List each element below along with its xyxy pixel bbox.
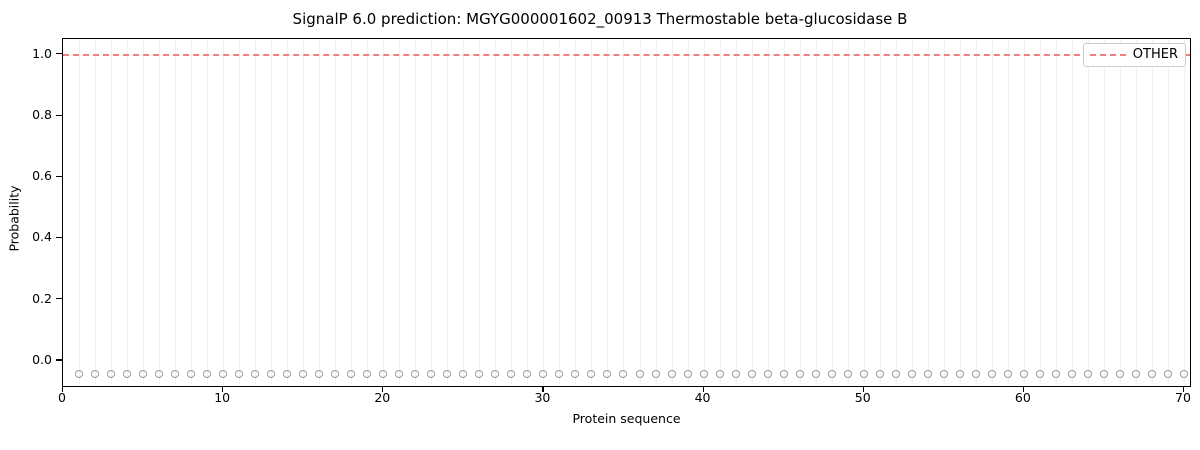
gridline [559,39,560,386]
gridline [1024,39,1025,386]
other-probability-line [63,54,1190,56]
gridline [1120,39,1121,386]
gridline [575,39,576,386]
residue-marker [379,370,387,378]
residue-letter: I [151,386,167,387]
residue-letter: E [263,386,279,387]
residue-letter: D [904,386,920,387]
gridline [207,39,208,386]
gridline [1184,39,1185,386]
residue-letter: L [359,386,375,387]
residue-marker [988,370,996,378]
residue-marker [283,370,291,378]
gridline [303,39,304,386]
gridline [672,39,673,386]
residue-marker [251,370,259,378]
residue-letter: I [167,386,183,387]
gridline [976,39,977,386]
gridline [800,39,801,386]
legend-other-label: OTHER [1133,48,1178,62]
gridline [896,39,897,386]
residue-letter: I [1080,386,1096,387]
residue-marker [700,370,708,378]
gridline [527,39,528,386]
residue-letter: G [792,386,808,387]
residue-letter: D [87,386,103,387]
residue-marker [780,370,788,378]
residue-marker [331,370,339,378]
residue-marker [571,370,579,378]
residue-letter: K [135,386,151,387]
residue-marker [523,370,531,378]
residue-marker [796,370,804,378]
y-tick-label: 0.0 [6,353,52,366]
gridline [111,39,112,386]
residue-letter: K [888,386,904,387]
residue-letter: K [119,386,135,387]
residue-letter: V [615,386,631,387]
x-tick-label: 50 [843,391,883,404]
gridline [191,39,192,386]
gridline [992,39,993,386]
residue-marker [1132,370,1140,378]
gridline [271,39,272,386]
residue-letter: D [728,386,744,387]
residue-letter: H [327,386,343,387]
residue-letter: M [840,386,856,387]
gridline [239,39,240,386]
gridline [688,39,689,386]
residue-letter: S [471,386,487,387]
y-tick-label: 0.2 [6,292,52,305]
gridline [623,39,624,386]
gridline [367,39,368,386]
gridline [607,39,608,386]
residue-letter: E [551,386,567,387]
x-tick-label: 10 [202,391,242,404]
residue-letter: K [295,386,311,387]
residue-marker [1004,370,1012,378]
x-tick-mark [222,387,223,392]
gridline [175,39,176,386]
residue-letter: K [632,386,648,387]
residue-marker [1100,370,1108,378]
x-tick-label: 0 [42,391,82,404]
gridline [463,39,464,386]
residue-letter: S [920,386,936,387]
gridline [255,39,256,386]
gridline [1072,39,1073,386]
gridline [832,39,833,386]
x-tick-label: 40 [683,391,723,404]
residue-letter: N [455,386,471,387]
residue-letter: M [71,386,87,387]
residue-marker [1068,370,1076,378]
residue-marker [1020,370,1028,378]
residue-marker [139,370,147,378]
residue-letter: E [199,386,215,387]
gridline [479,39,480,386]
x-tick-label: 30 [522,391,562,404]
residue-letter: G [744,386,760,387]
residue-letter: M [664,386,680,387]
residue-marker [155,370,163,378]
gridline [784,39,785,386]
x-tick-mark [1023,387,1024,392]
gridline [1040,39,1041,386]
residue-marker [1036,370,1044,378]
gridline [768,39,769,386]
gridline [864,39,865,386]
residue-letter: D [423,386,439,387]
gridline [640,39,641,386]
residue-marker [427,370,435,378]
residue-marker [812,370,820,378]
residue-marker [764,370,772,378]
gridline [95,39,96,386]
residue-letter: Y [343,386,359,387]
residue-marker [475,370,483,378]
residue-letter: F [583,386,599,387]
residue-marker [940,370,948,378]
gridline [543,39,544,386]
residue-letter: Q [1032,386,1048,387]
residue-marker [716,370,724,378]
gridline [591,39,592,386]
residue-letter: L [1048,386,1064,387]
residue-marker [171,370,179,378]
residue-marker [363,370,371,378]
gridline [880,39,881,386]
residue-marker [956,370,964,378]
legend[interactable]: OTHER [1083,43,1186,67]
x-tick-mark [542,387,543,392]
gridline [720,39,721,386]
residue-letter: Q [968,386,984,387]
gridline [944,39,945,386]
residue-letter: S [936,386,952,387]
residue-marker [347,370,355,378]
residue-marker [876,370,884,378]
residue-letter: E [279,386,295,387]
gridline [287,39,288,386]
gridline [912,39,913,386]
gridline [1152,39,1153,386]
residue-letter: P [599,386,615,387]
residue-letter: R [824,386,840,387]
residue-letter: K [648,386,664,387]
residue-letter: T [231,386,247,387]
residue-marker [299,370,307,378]
gridline [351,39,352,386]
gridline [319,39,320,386]
x-tick-mark [703,387,704,392]
residue-marker [1164,370,1172,378]
residue-letter: K [1064,386,1080,387]
residue-marker [411,370,419,378]
residue-marker [748,370,756,378]
residue-marker [619,370,627,378]
residue-letter: L [808,386,824,387]
residue-letter: Y [503,386,519,387]
y-tick-label: 0.6 [6,169,52,182]
residue-marker [1052,370,1060,378]
residue-marker [555,370,563,378]
signalp-prediction-figure: SignalP 6.0 prediction: MGYG000001602_00… [0,0,1200,450]
residue-marker [587,370,595,378]
residue-marker [235,370,243,378]
gridline [383,39,384,386]
residue-marker [75,370,83,378]
gridline [656,39,657,386]
residue-marker [844,370,852,378]
gridline [816,39,817,386]
gridline [1104,39,1105,386]
residue-marker [123,370,131,378]
gridline [736,39,737,386]
gridline [704,39,705,386]
residue-letter: H [712,386,728,387]
x-tick-mark [1183,387,1184,392]
residue-letter: P [1096,386,1112,387]
residue-letter: F [1144,386,1160,387]
residue-marker [668,370,676,378]
x-tick-label: 60 [1003,391,1043,404]
residue-letter: R [567,386,583,387]
residue-letter: L [439,386,455,387]
residue-marker [1084,370,1092,378]
residue-marker [443,370,451,378]
gridline [79,39,80,386]
residue-marker [1116,370,1124,378]
residue-marker [924,370,932,378]
gridline [159,39,160,386]
residue-letter: Y [103,386,119,387]
residue-marker [636,370,644,378]
residue-marker [603,370,611,378]
residue-marker [539,370,547,378]
residue-letter: T [1112,386,1128,387]
residue-letter: A [407,386,423,387]
residue-letter: E [1000,386,1016,387]
x-tick-mark [382,387,383,392]
residue-letter: T [183,386,199,387]
residue-marker [491,370,499,378]
gridline [495,39,496,386]
residue-marker [107,370,115,378]
gridline [1136,39,1137,386]
residue-letter: E [519,386,535,387]
legend-other-line-swatch [1090,54,1126,56]
residue-letter: Q [1160,386,1176,387]
residue-marker [652,370,660,378]
x-tick-label: 20 [362,391,402,404]
gridline [752,39,753,386]
gridline [335,39,336,386]
residue-marker [219,370,227,378]
residue-marker [732,370,740,378]
residue-letter: V [872,386,888,387]
residue-marker [892,370,900,378]
residue-marker [507,370,515,378]
x-axis-label: Protein sequence [62,412,1191,425]
residue-letter: G [391,386,407,387]
residue-marker [860,370,868,378]
residue-marker [459,370,467,378]
gridline [127,39,128,386]
residue-letter: K [952,386,968,387]
residue-letter: A [1128,386,1144,387]
gridline [960,39,961,386]
gridline [848,39,849,386]
residue-marker [267,370,275,378]
x-tick-mark [863,387,864,392]
residue-letter: E [984,386,1000,387]
gridline [143,39,144,386]
gridline [415,39,416,386]
y-tick-label: 0.4 [6,230,52,243]
y-tick-label: 1.0 [6,47,52,60]
y-tick-label: 0.8 [6,108,52,121]
gridline [399,39,400,386]
residue-marker [395,370,403,378]
residue-letter: P [760,386,776,387]
residue-letter: L [247,386,263,387]
residue-marker [203,370,211,378]
gridline [1008,39,1009,386]
residue-marker [91,370,99,378]
residue-letter: F [311,386,327,387]
x-tick-label: 70 [1163,391,1200,404]
residue-letter: F [776,386,792,387]
residue-marker [1180,370,1188,378]
plot-area: MDYKKIITEMTLEEKFHYLTGADLNSGYELERFPVKKMRY… [62,38,1191,387]
gridline [1168,39,1169,386]
residue-marker [684,370,692,378]
gridline [1056,39,1057,386]
residue-marker [828,370,836,378]
gridline [928,39,929,386]
gridline [447,39,448,386]
gridline [223,39,224,386]
residue-marker [908,370,916,378]
residue-marker [187,370,195,378]
gridline [511,39,512,386]
residue-marker [972,370,980,378]
x-tick-mark [62,387,63,392]
gridline [431,39,432,386]
residue-letter: R [680,386,696,387]
residue-marker [315,370,323,378]
residue-marker [1148,370,1156,378]
gridline [1088,39,1089,386]
y-axis-label: Probability [8,119,21,319]
residue-letter: G [487,386,503,387]
